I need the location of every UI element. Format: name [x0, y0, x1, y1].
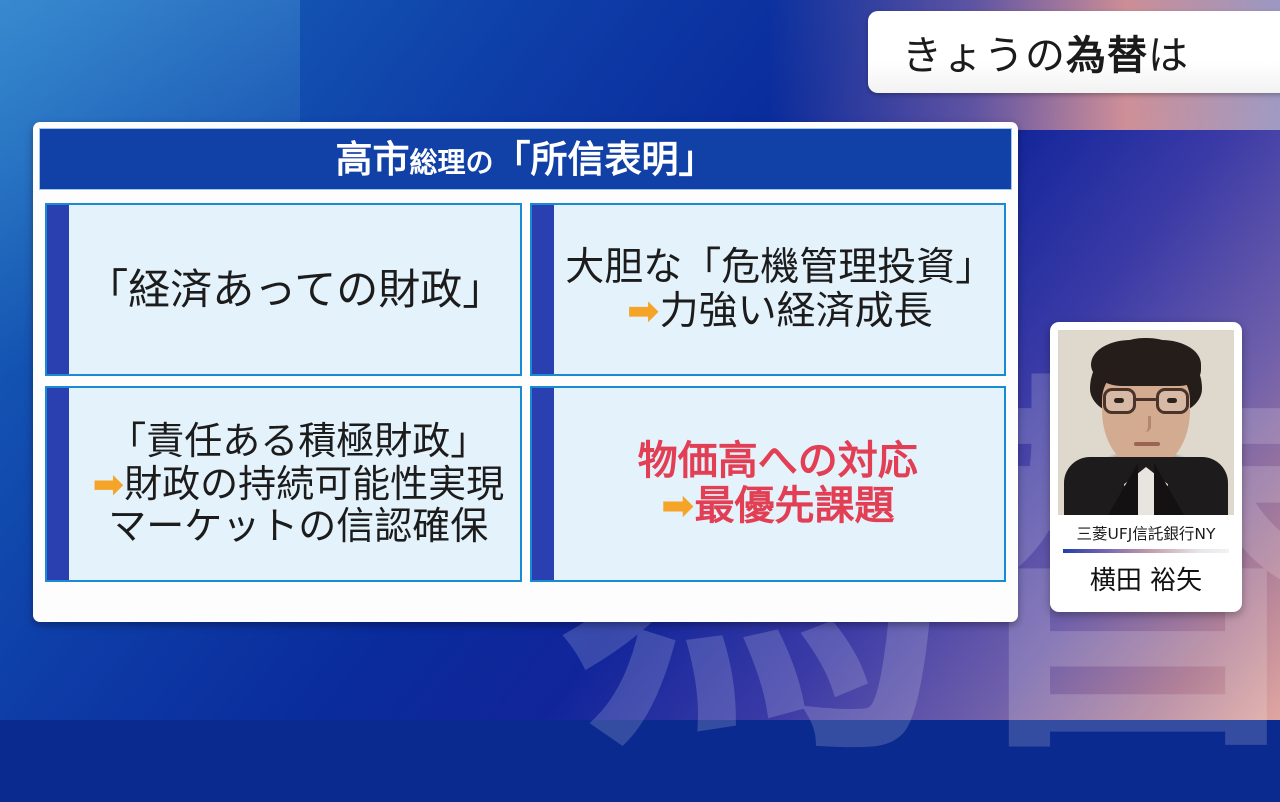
- avatar-fringe: [1091, 340, 1201, 386]
- card-title-part3: 「所信表明」: [494, 138, 716, 181]
- panel-responsible-fiscal: 「責任ある積極財政」 ➡財政の持続可能性実現 マーケットの信認確保: [45, 386, 522, 582]
- arrow-icon: ➡: [627, 289, 660, 334]
- panel-inflation-priority: 物価高への対応 ➡最優先課題: [530, 386, 1007, 582]
- card-title-part1: 高市: [335, 138, 409, 181]
- panel-text: 「経済あっての財政」: [62, 266, 504, 313]
- panel-line: 「責任ある積極財政」: [92, 420, 504, 463]
- guest-name: 横田 裕矢: [1058, 560, 1234, 597]
- panel-economy-first: 「経済あっての財政」: [45, 203, 522, 376]
- card-title-bar: 高市総理の「所信表明」: [39, 128, 1012, 190]
- panel-line: 大胆な「危機管理投資」: [565, 246, 994, 290]
- panel-accent-bar: [532, 388, 554, 580]
- main-content-card: 高市総理の「所信表明」 「経済あっての財政」 大胆な「危機管理投資」 ➡力強い経…: [33, 122, 1018, 622]
- avatar-glasses-bridge: [1136, 398, 1156, 401]
- header-suffix: は: [1148, 33, 1189, 79]
- avatar-mouth: [1134, 442, 1160, 446]
- panel-line-text: 最優先課題: [695, 483, 895, 529]
- arrow-icon: ➡: [92, 462, 124, 506]
- panel-line: ➡最優先課題: [638, 484, 918, 529]
- avatar-nose: [1142, 416, 1151, 432]
- avatar-eye-left: [1114, 398, 1124, 403]
- arrow-icon: ➡: [661, 483, 695, 529]
- panel-text: 大胆な「危機管理投資」 ➡力強い経済成長: [541, 246, 994, 333]
- panel-text: 「責任ある積極財政」 ➡財政の持続可能性実現 マーケットの信認確保: [62, 420, 504, 548]
- panel-text: 物価高への対応 ➡最優先課題: [618, 439, 918, 529]
- panel-line: ➡力強い経済成長: [565, 290, 994, 334]
- header-keyword: 為替: [1066, 33, 1148, 79]
- guest-company: 三菱UFJ信託銀行NY: [1058, 522, 1234, 544]
- panel-crisis-investment: 大胆な「危機管理投資」 ➡力強い経済成長: [530, 203, 1007, 376]
- panel-line-text: 力強い経済成長: [660, 289, 933, 334]
- header-banner-text: きょうの為替は: [902, 23, 1189, 81]
- guest-divider: [1063, 549, 1229, 553]
- panel-grid: 「経済あっての財政」 大胆な「危機管理投資」 ➡力強い経済成長 「責任ある積極財…: [39, 203, 1012, 582]
- guest-portrait-card: 三菱UFJ信託銀行NY 横田 裕矢: [1050, 322, 1242, 612]
- panel-line-text: 財政の持続可能性実現: [124, 462, 504, 506]
- panel-line: 物価高への対応: [638, 439, 918, 484]
- card-title: 高市総理の「所信表明」: [335, 141, 715, 178]
- panel-line: マーケットの信認確保: [92, 505, 504, 548]
- panel-line: ➡財政の持続可能性実現: [92, 463, 504, 506]
- card-title-part2: 総理の: [409, 146, 493, 179]
- guest-avatar: [1058, 330, 1234, 515]
- header-prefix: きょうの: [902, 33, 1066, 79]
- panel-line: 「経済あっての財政」: [86, 266, 504, 313]
- header-banner: きょうの為替は: [868, 11, 1280, 93]
- avatar-eye-right: [1167, 398, 1177, 403]
